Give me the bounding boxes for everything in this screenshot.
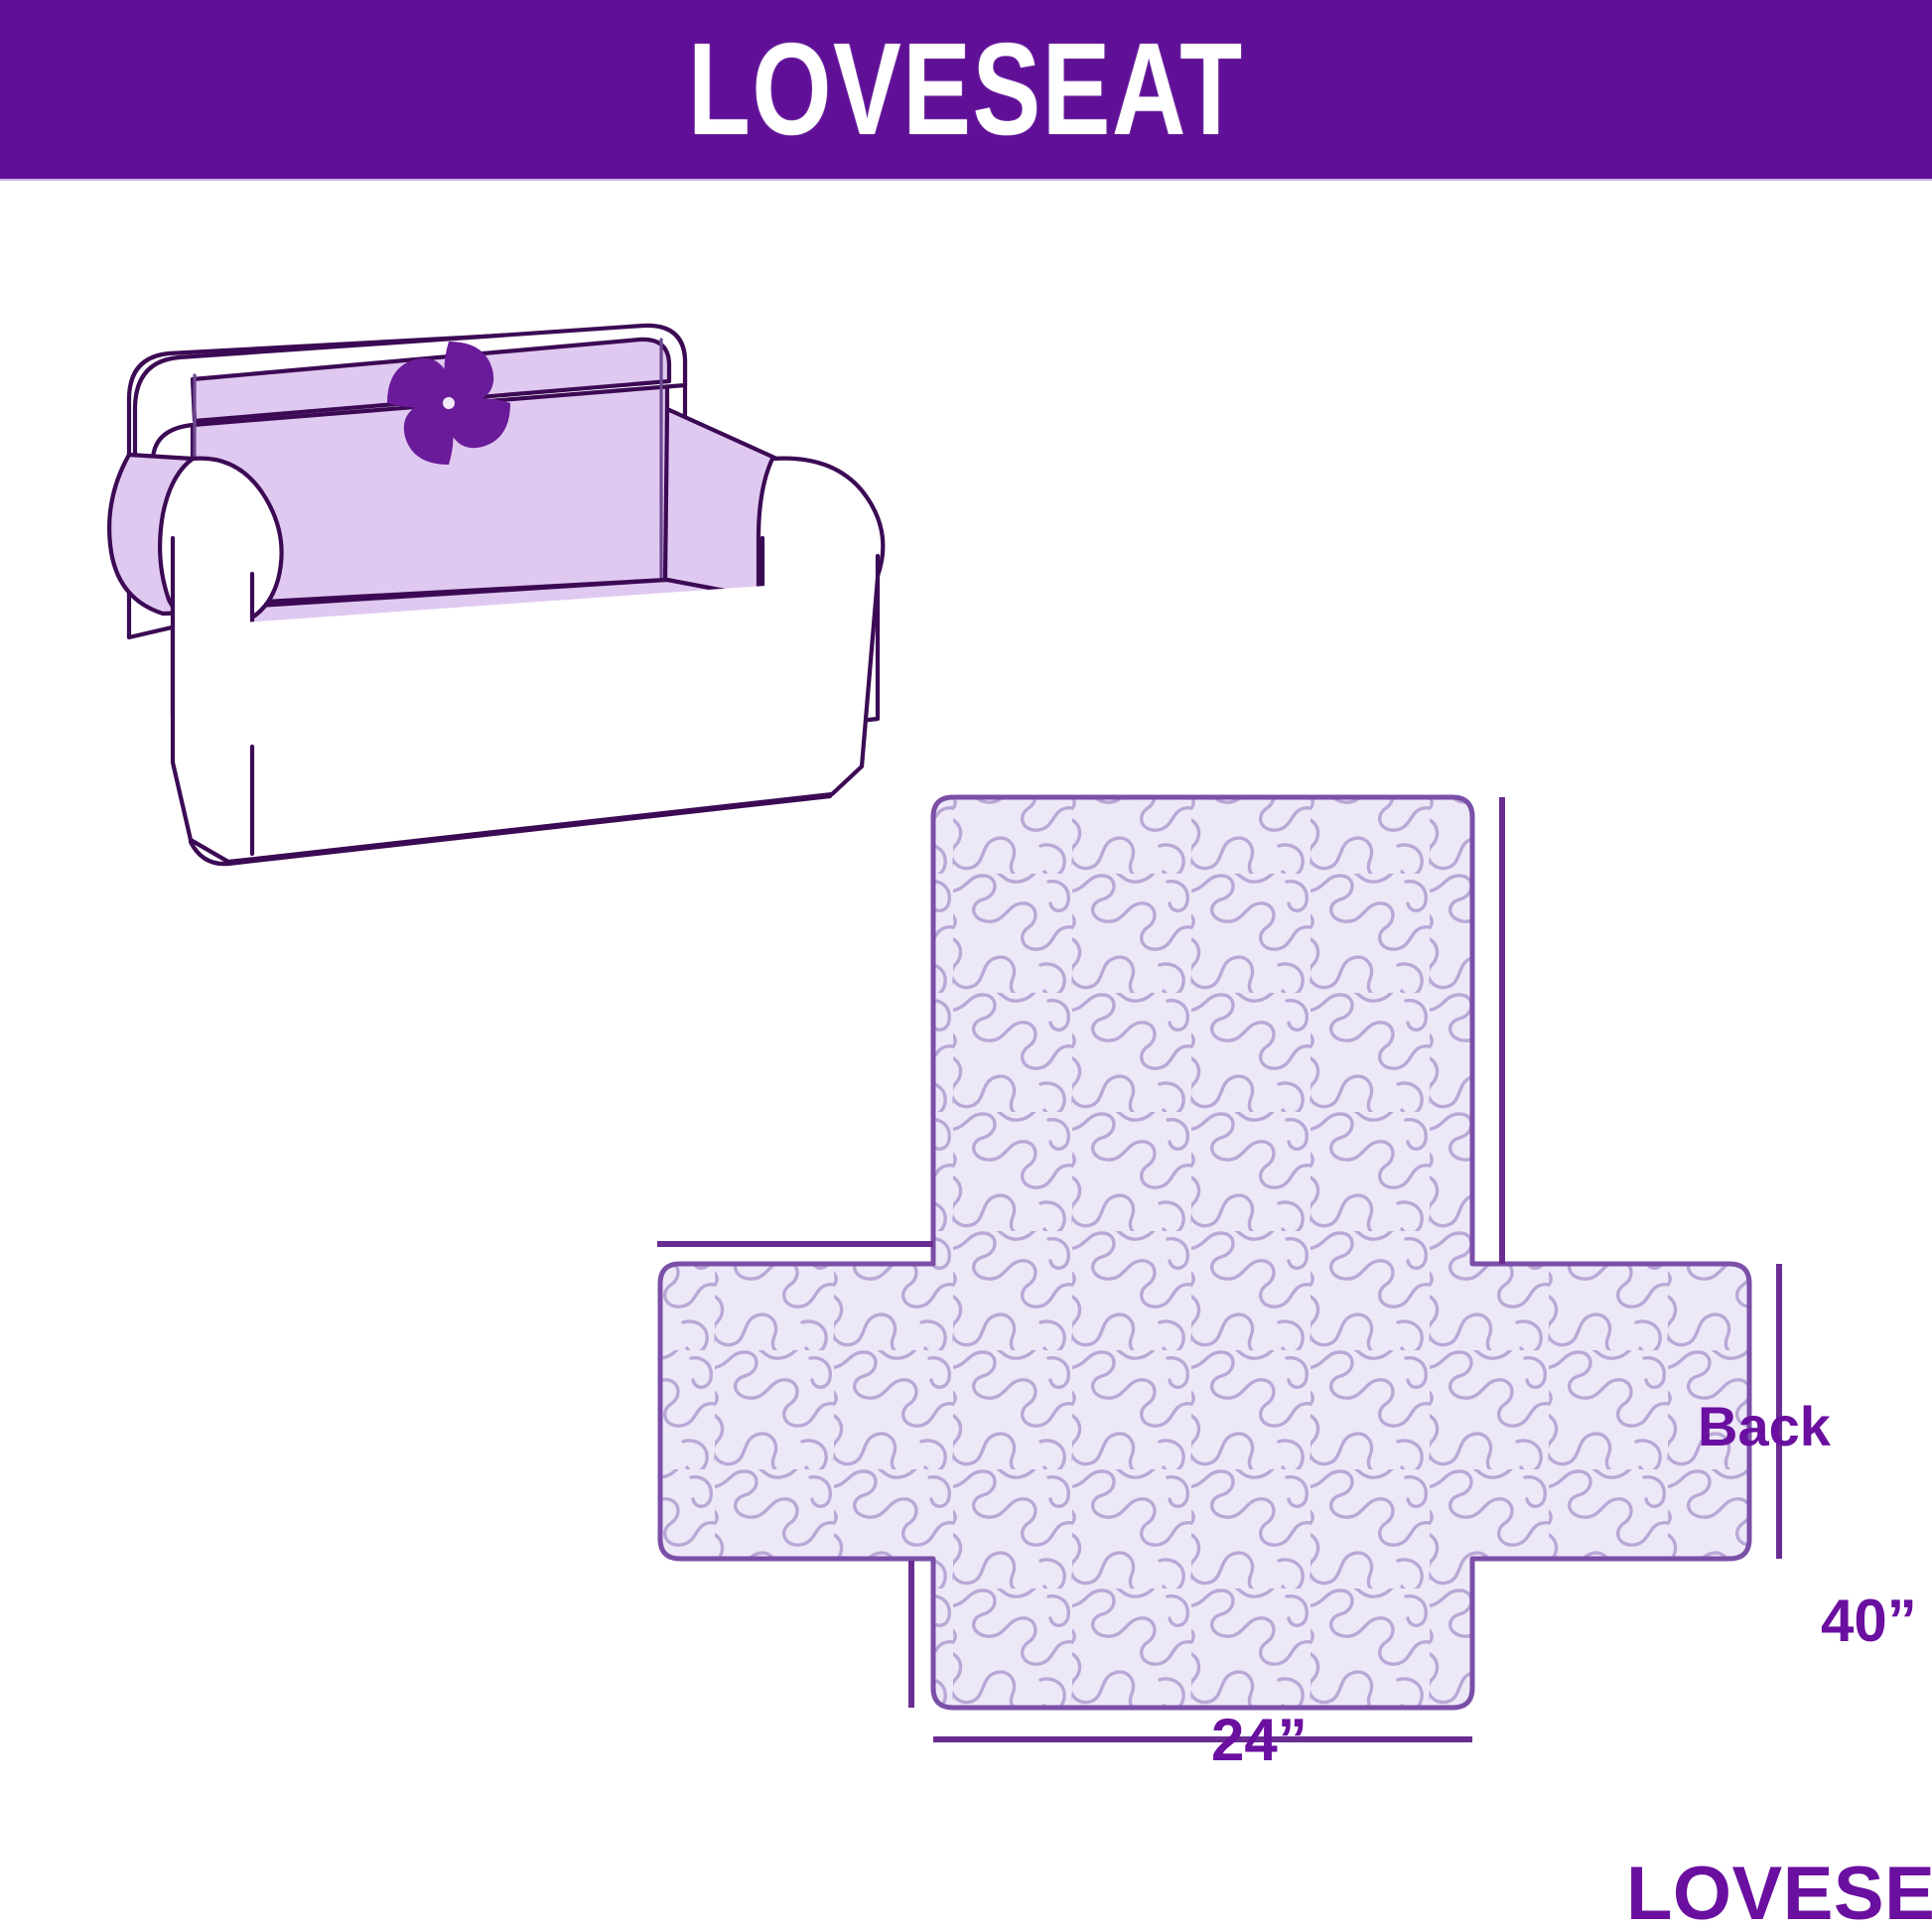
cover-pattern-diagram: .panel { fill:url(#meander); stroke:#7B4… (596, 755, 1932, 1932)
product-diagram-page: LOVESEAT .ol { fill:none; stroke:#3C0A55… (0, 0, 1932, 1932)
panel-label-center: LOVESEAT (1626, 1857, 1932, 1932)
dimension-label-back-offset: 24” (1211, 1711, 1308, 1770)
dimension-label-back-height: 40” (1821, 1591, 1917, 1651)
loveseat-illustration: .ol { fill:none; stroke:#3C0A55; stroke-… (77, 210, 911, 717)
page-header-banner: LOVESEAT (0, 0, 1932, 179)
panel-label-back: Back (1698, 1399, 1831, 1454)
page-title: LOVESEAT (688, 24, 1244, 155)
cross-pattern-outline (660, 797, 1749, 1708)
